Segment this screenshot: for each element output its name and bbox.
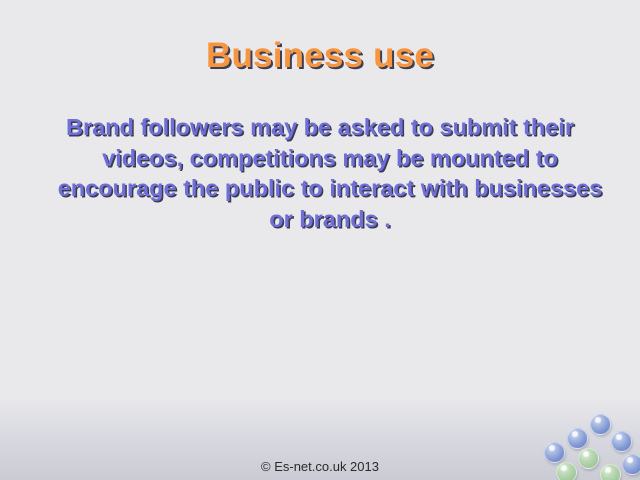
sphere-blue-1 <box>567 428 588 449</box>
slide-body-block: Brand followers may be asked to submit t… <box>30 112 610 234</box>
sphere-green-4 <box>578 448 599 469</box>
sphere-blue-7 <box>622 454 640 475</box>
sphere-blue-2 <box>611 431 632 452</box>
sphere-green-6 <box>600 464 621 480</box>
sphere-cluster-decoration <box>540 412 640 480</box>
slide-body-text: Brand followers may be asked to submit t… <box>30 112 610 234</box>
sphere-blue-3 <box>544 442 565 463</box>
sphere-green-5 <box>556 462 577 480</box>
slide-canvas: Business use Brand followers may be aske… <box>0 0 640 480</box>
sphere-blue-0 <box>590 414 611 435</box>
slide-title: Business use <box>0 36 640 76</box>
